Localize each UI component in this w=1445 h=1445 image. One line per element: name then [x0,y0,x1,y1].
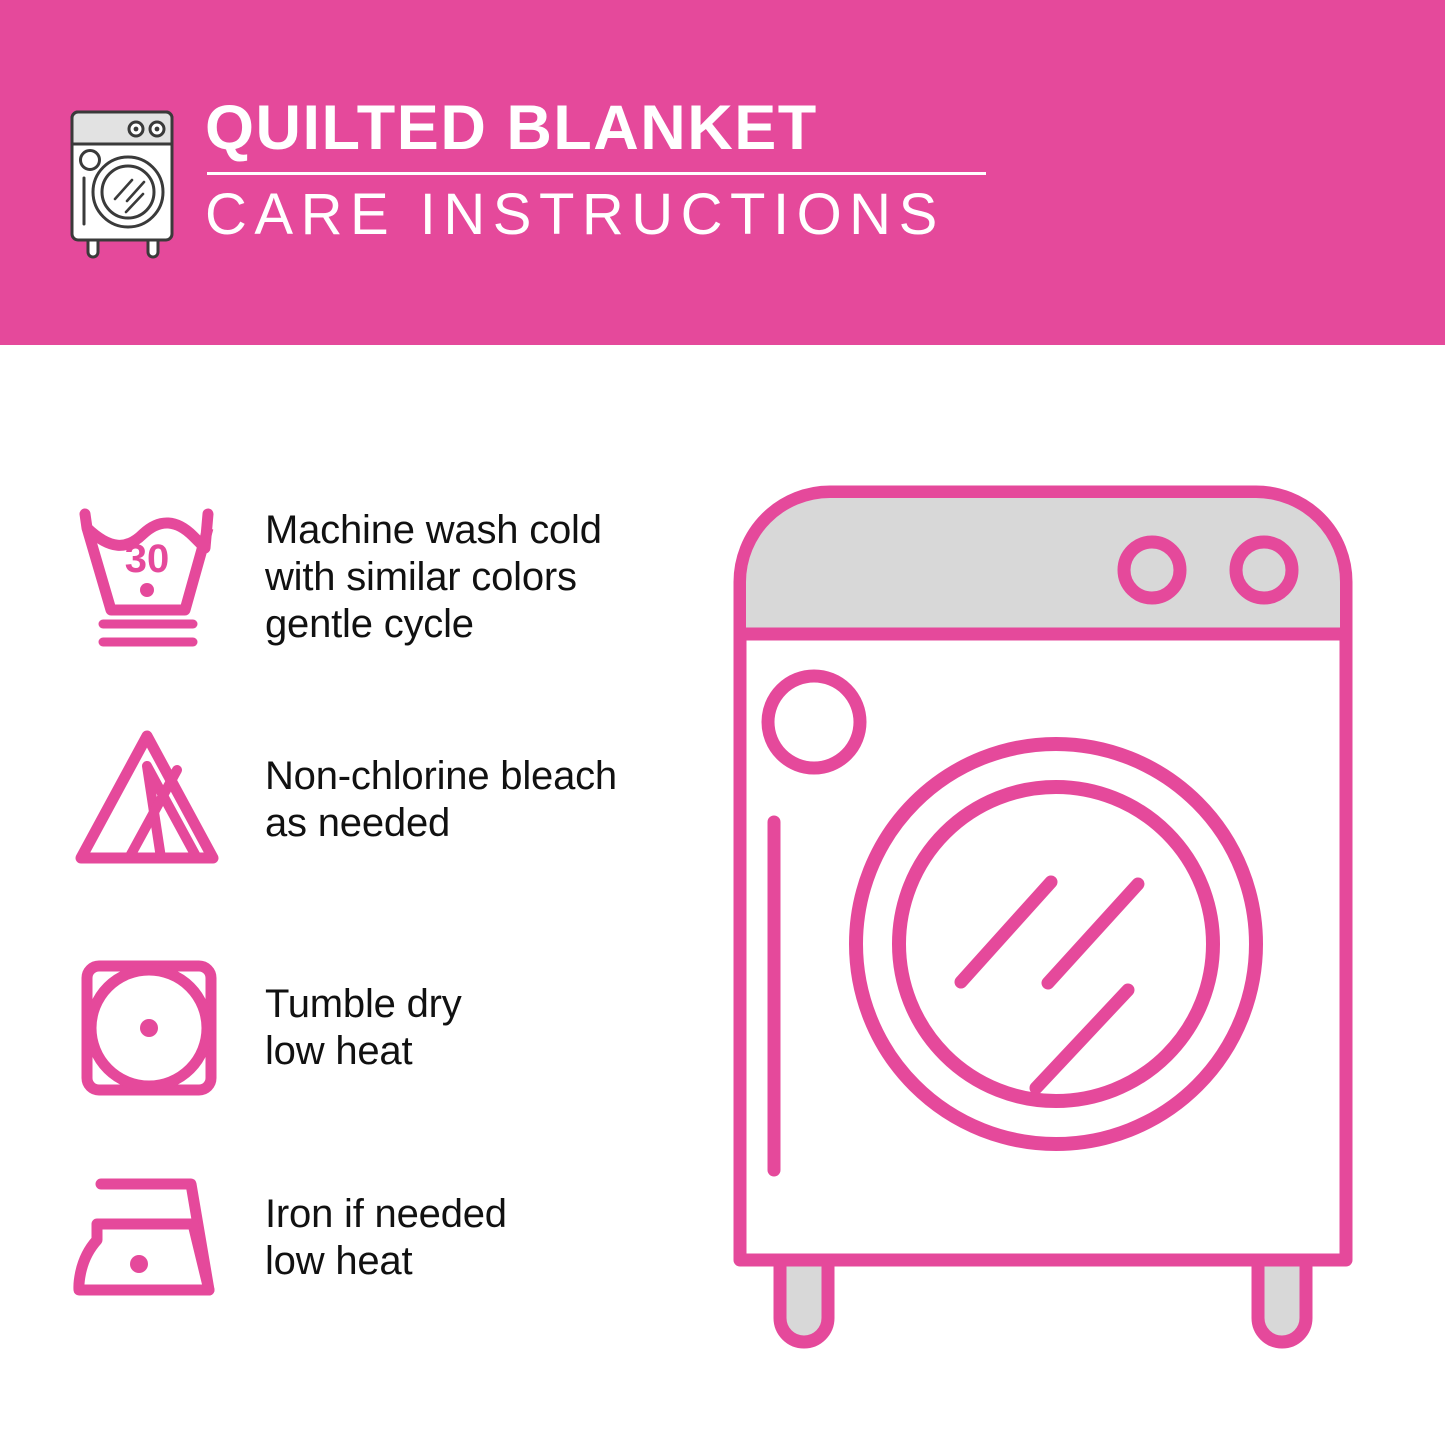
wash-temperature-label: 30 [124,537,169,581]
drum-door-inner [899,787,1213,1101]
care-row-tumble-dry: Tumble dry low heat [62,945,682,1110]
knob-right [1236,542,1292,598]
non-chlorine-bleach-triangle-icon [62,717,247,882]
care-line: as needed [265,800,617,847]
care-row-wash: 30 Machine wash cold with similar colors… [62,495,682,660]
front-load-washing-machine-illustration [718,470,1418,1370]
care-line: with similar colors [265,554,602,601]
page-subtitle: CARE INSTRUCTIONS [205,185,986,244]
care-label-wash: Machine wash cold with similar colors ge… [265,507,602,647]
leg-right [1258,1260,1306,1342]
washing-machine-icon [62,102,187,260]
tumble-dry-dot-icon [140,1019,158,1037]
detergent-dispenser [768,676,860,768]
title-divider [207,172,986,175]
page-title: QUILTED BLANKET [205,96,986,160]
knob-left [1124,542,1180,598]
care-instructions-page: QUILTED BLANKET CARE INSTRUCTIONS [0,0,1445,1445]
iron-low-heat-icon [62,1155,247,1320]
header-content: QUILTED BLANKET CARE INSTRUCTIONS [62,96,986,260]
care-line: Non-chlorine bleach [265,753,617,800]
care-label-iron: Iron if needed low heat [265,1191,507,1285]
care-row-bleach: Non-chlorine bleach as needed [62,717,682,882]
care-line: low heat [265,1028,462,1075]
care-label-tumble-dry: Tumble dry low heat [265,981,462,1075]
header-title-group: QUILTED BLANKET CARE INSTRUCTIONS [205,96,986,244]
leg-left [780,1260,828,1342]
care-line: gentle cycle [265,601,602,648]
page-header: QUILTED BLANKET CARE INSTRUCTIONS [0,0,1445,345]
tumble-dry-low-icon [62,945,247,1110]
iron-dot-icon [130,1255,148,1273]
care-line: Machine wash cold [265,507,602,554]
care-line: Iron if needed [265,1191,507,1238]
care-instruction-list: 30 Machine wash cold with similar colors… [0,345,700,1445]
care-row-iron: Iron if needed low heat [62,1155,682,1320]
care-line: Tumble dry [265,981,462,1028]
wash-dot-icon [140,583,154,597]
care-label-bleach: Non-chlorine bleach as needed [265,753,617,847]
wash-tub-30-gentle-icon: 30 [62,495,247,660]
care-line: low heat [265,1238,507,1285]
